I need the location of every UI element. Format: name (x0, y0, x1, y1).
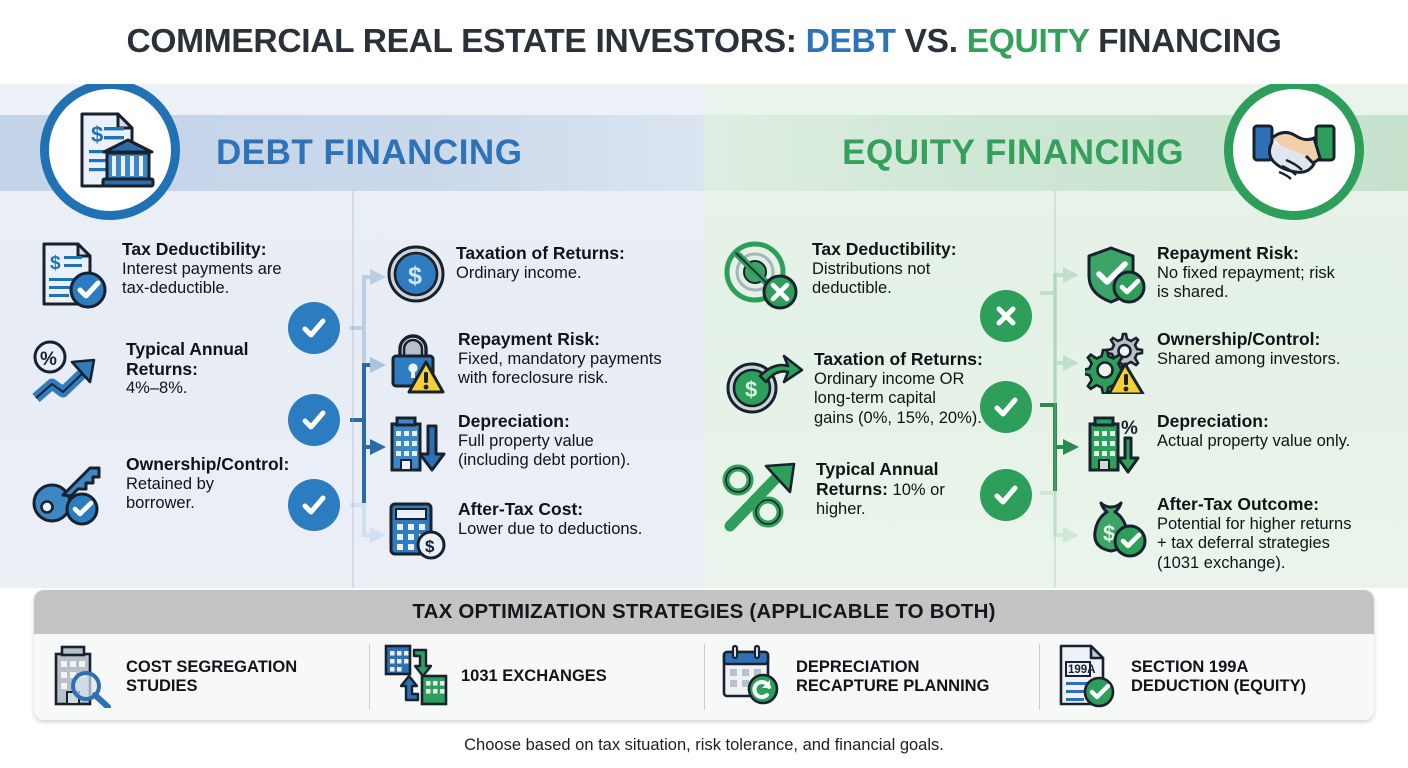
building-exchange-icon (383, 642, 449, 713)
calculator-dollar-icon: $ (386, 500, 448, 565)
debt-left-item-0-text: Tax Deductibility: Interest payments are… (122, 240, 282, 299)
debt-right-item-3-title: After-Tax Cost: (458, 500, 642, 520)
equity-left-item-2-title: Typical Annual (816, 460, 945, 480)
debt-column-divider (352, 191, 354, 588)
check-icon (299, 405, 329, 435)
title-equity-word: EQUITY (967, 23, 1089, 60)
gears-warning-icon (1085, 330, 1147, 399)
strategy-item-3-line-0: SECTION 199A (1131, 658, 1306, 678)
calendar-undo-icon (718, 642, 784, 713)
equity-left-item-2-text: Typical Annual Returns: 10% or higher. (816, 460, 945, 520)
key-check-icon (30, 455, 116, 532)
coin-arrow-icon: $ (722, 350, 804, 421)
strategy-item-1[interactable]: 1031 EXCHANGES (369, 634, 704, 720)
svg-text:$: $ (745, 377, 757, 402)
equity-left-item-1-title: Taxation of Returns: (814, 350, 983, 370)
equity-left-item-2-line-0: higher. (816, 500, 945, 520)
debt-medallion: $ (40, 80, 180, 220)
percent-growth-arrow-icon: % (32, 340, 116, 411)
equity-right-item-2-line-0: Actual property value only. (1157, 432, 1350, 452)
title-part-1: COMMERCIAL REAL ESTATE INVESTORS: (127, 23, 806, 60)
equity-right-item-0-title: Repayment Risk: (1157, 244, 1335, 264)
debt-left-item-2-line-1: borrower. (126, 494, 289, 514)
equity-medallion (1224, 80, 1364, 220)
strategy-item-1-line-0: 1031 EXCHANGES (461, 667, 607, 687)
debt-right-item-2-line-1: (including debt portion). (458, 451, 630, 471)
close-icon (991, 301, 1021, 331)
handshake-icon (1242, 98, 1346, 202)
equity-right-item-2-text: Depreciation: Actual property value only… (1157, 412, 1350, 451)
debt-right-item-1-title: Repayment Risk: (458, 330, 662, 350)
equity-heading: EQUITY FINANCING (760, 115, 1200, 191)
debt-right-item-0: $ Taxation of Returns: Ordinary income. (386, 244, 686, 309)
strategy-item-3-line-1: DEDUCTION (EQUITY) (1131, 677, 1306, 697)
document-199a-check-icon: 199A (1053, 642, 1119, 713)
page-title: COMMERCIAL REAL ESTATE INVESTORS: DEBT V… (127, 23, 1282, 61)
debt-heading: DEBT FINANCING (200, 115, 640, 191)
equity-right-item-3-line-2: (1031 exchange). (1157, 554, 1351, 574)
strategy-item-1-label: 1031 EXCHANGES (461, 667, 607, 687)
debt-right-item-2-title: Depreciation: (458, 412, 630, 432)
debt-left-item-1-title2: Returns: (126, 360, 249, 380)
equity-right-item-1-text: Ownership/Control: Shared among investor… (1157, 330, 1340, 369)
equity-left-item-0-text: Tax Deductibility: Distributions not ded… (812, 240, 957, 299)
strategy-item-0[interactable]: COST SEGREGATION STUDIES (34, 634, 369, 720)
document-dollar-check-icon: $ (36, 240, 112, 317)
debt-right-item-1-line-0: Fixed, mandatory payments (458, 350, 662, 370)
debt-right-item-3-line-0: Lower due to deductions. (458, 520, 642, 540)
title-debt-word: DEBT (806, 23, 896, 60)
equity-left-item-2-title2: Returns: (816, 479, 888, 499)
building-down-arrow-icon (386, 412, 448, 481)
debt-right-item-0-title: Taxation of Returns: (456, 244, 625, 264)
check-icon (299, 490, 329, 520)
debt-badge-2[interactable] (288, 479, 340, 531)
debt-left-item-1: % Typical Annual Returns: 4%–8%. (32, 340, 322, 411)
strategy-item-0-label: COST SEGREGATION STUDIES (126, 658, 297, 697)
equity-right-item-3-line-0: Potential for higher returns (1157, 515, 1351, 535)
equity-left-item-1-line-0: Ordinary income OR (814, 370, 983, 390)
equity-right-item-2-title: Depreciation: (1157, 412, 1350, 432)
svg-text:$: $ (50, 253, 61, 274)
equity-left-item-1: $ Taxation of Returns: Ordinary income O… (722, 350, 1022, 428)
equity-right-item-0-line-0: No fixed repayment; risk (1157, 264, 1335, 284)
building-percent-down-icon: % (1085, 412, 1147, 481)
strategy-item-0-line-1: STUDIES (126, 677, 297, 697)
title-bar: COMMERCIAL REAL ESTATE INVESTORS: DEBT V… (0, 0, 1408, 84)
equity-right-item-3: $ After-Tax Outcome: Potential for highe… (1085, 495, 1395, 573)
svg-text:199A: 199A (1068, 664, 1096, 676)
svg-text:%: % (1121, 418, 1138, 439)
shield-check-icon (1085, 244, 1147, 311)
debt-left-item-2: Ownership/Control: Retained by borrower. (30, 455, 330, 532)
svg-text:$: $ (408, 262, 422, 290)
footnote: Choose based on tax situation, risk tole… (0, 736, 1408, 755)
debt-left-item-0: $ Tax Deductibility: Interest payments a… (36, 240, 326, 317)
svg-text:%: % (40, 349, 57, 370)
equity-badge-0[interactable] (980, 290, 1032, 342)
debt-left-item-0-line-0: Interest payments are (122, 260, 282, 280)
equity-badge-2[interactable] (980, 469, 1032, 521)
equity-left-item-1-text: Taxation of Returns: Ordinary income OR … (814, 350, 983, 428)
debt-badge-0[interactable] (288, 302, 340, 354)
lock-warning-icon (386, 330, 448, 399)
svg-text:$: $ (91, 122, 103, 147)
strategy-item-2[interactable]: DEPRECIATION RECAPTURE PLANNING (704, 634, 1039, 720)
equity-right-item-0-line-1: is shared. (1157, 283, 1335, 303)
debt-right-item-0-line-0: Ordinary income. (456, 264, 625, 284)
equity-left-item-0-title: Tax Deductibility: (812, 240, 957, 260)
check-icon (299, 313, 329, 343)
debt-right-item-0-text: Taxation of Returns: Ordinary income. (456, 244, 625, 283)
debt-left-item-2-line-0: Retained by (126, 475, 289, 495)
debt-left-item-0-title: Tax Deductibility: (122, 240, 282, 260)
equity-badge-1[interactable] (980, 381, 1032, 433)
equity-right-item-3-title: After-Tax Outcome: (1157, 495, 1351, 515)
equity-left-item-0-line-0: Distributions not (812, 260, 957, 280)
strategy-item-3[interactable]: 199A SECTION 199A DEDUCTION (EQUITY) (1039, 634, 1374, 720)
check-icon (991, 392, 1021, 422)
infographic-root: COMMERCIAL REAL ESTATE INVESTORS: DEBT V… (0, 0, 1408, 768)
svg-text:$: $ (1103, 521, 1115, 546)
debt-right-item-3-text: After-Tax Cost: Lower due to deductions. (458, 500, 642, 539)
check-icon (991, 480, 1021, 510)
equity-right-item-1-title: Ownership/Control: (1157, 330, 1340, 350)
equity-left-item-2-inline: 10% or (888, 481, 945, 499)
strategy-item-3-label: SECTION 199A DEDUCTION (EQUITY) (1131, 658, 1306, 697)
equity-right-item-1: Ownership/Control: Shared among investor… (1085, 330, 1395, 399)
debt-left-item-0-line-1: tax-deductible. (122, 279, 282, 299)
equity-right-item-2: % Depreciation: Actual property value on… (1085, 412, 1395, 481)
tax-strategies-header: TAX OPTIMIZATION STRATEGIES (APPLICABLE … (34, 590, 1374, 634)
debt-right-item-2-text: Depreciation: Full property value (inclu… (458, 412, 630, 471)
equity-right-item-1-line-0: Shared among investors. (1157, 350, 1340, 370)
debt-right-item-3: $ After-Tax Cost: Lower due to deduction… (386, 500, 696, 565)
debt-left-item-2-title: Ownership/Control: (126, 455, 289, 475)
dollar-coin-icon: $ (386, 244, 446, 309)
title-vs: VS. (896, 23, 967, 60)
debt-right-item-1-line-1: with foreclosure risk. (458, 369, 662, 389)
strategy-item-2-label: DEPRECIATION RECAPTURE PLANNING (796, 658, 989, 697)
no-deduction-cross-icon (722, 240, 802, 317)
debt-left-item-1-text: Typical Annual Returns: 4%–8%. (126, 340, 249, 399)
tax-strategies-panel: TAX OPTIMIZATION STRATEGIES (APPLICABLE … (34, 590, 1374, 720)
title-part-2: FINANCING (1089, 23, 1281, 60)
strategy-item-2-line-1: RECAPTURE PLANNING (796, 677, 989, 697)
svg-text:$: $ (425, 537, 435, 556)
tax-strategies-body: COST SEGREGATION STUDIES (34, 634, 1374, 720)
debt-left-item-1-title: Typical Annual (126, 340, 249, 360)
strategy-item-0-line-0: COST SEGREGATION (126, 658, 297, 678)
equity-left-item-2-titleline: Returns: 10% or (816, 480, 945, 501)
equity-column-divider (1054, 191, 1056, 588)
equity-left-item-2: Typical Annual Returns: 10% or higher. (722, 460, 1012, 537)
debt-badge-1[interactable] (288, 394, 340, 446)
document-bank-icon: $ (60, 100, 160, 200)
percent-up-arrow-icon (722, 460, 806, 537)
debt-right-item-2: Depreciation: Full property value (inclu… (386, 412, 696, 481)
debt-left-item-2-text: Ownership/Control: Retained by borrower. (126, 455, 289, 514)
equity-left-item-0: Tax Deductibility: Distributions not ded… (722, 240, 1012, 317)
building-magnifier-icon (48, 642, 114, 713)
debt-right-item-1: Repayment Risk: Fixed, mandatory payment… (386, 330, 696, 399)
strategy-item-2-line-0: DEPRECIATION (796, 658, 989, 678)
debt-right-item-1-text: Repayment Risk: Fixed, mandatory payment… (458, 330, 662, 389)
money-bag-check-icon: $ (1085, 495, 1147, 564)
equity-right-item-3-text: After-Tax Outcome: Potential for higher … (1157, 495, 1351, 573)
equity-right-item-3-line-1: + tax deferral strategies (1157, 534, 1351, 554)
equity-right-item-0-text: Repayment Risk: No fixed repayment; risk… (1157, 244, 1335, 303)
debt-left-item-1-line-0: 4%–8%. (126, 379, 249, 399)
equity-left-item-0-line-1: deductible. (812, 279, 957, 299)
equity-left-item-1-line-1: long-term capital (814, 389, 983, 409)
equity-left-item-1-line-2: gains (0%, 15%, 20%). (814, 409, 983, 429)
equity-right-item-0: Repayment Risk: No fixed repayment; risk… (1085, 244, 1395, 311)
debt-right-item-2-line-0: Full property value (458, 432, 630, 452)
